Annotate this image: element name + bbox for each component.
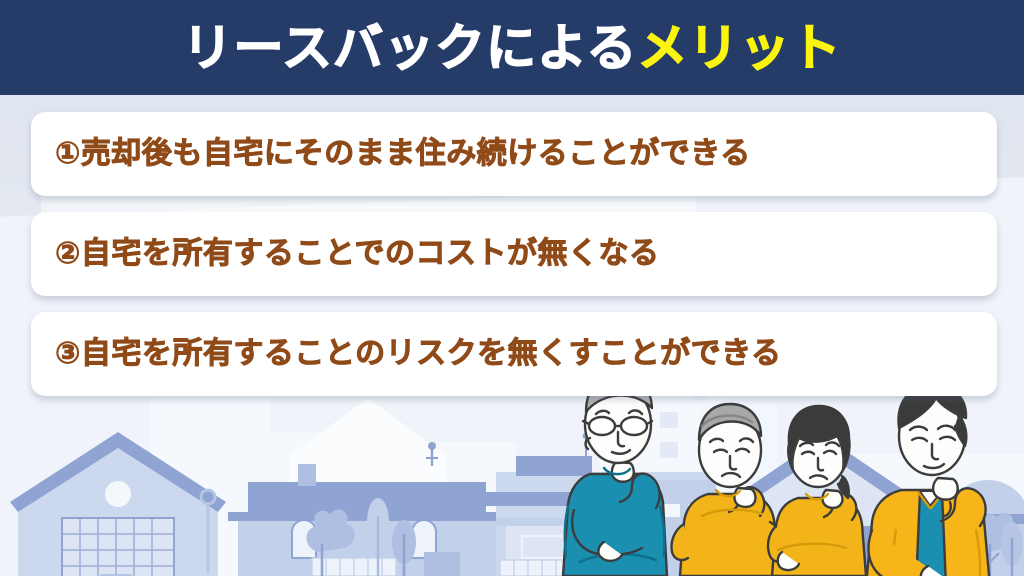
title-part-yellow: メリット	[638, 20, 842, 76]
title-part-white: リースバックによる	[183, 20, 638, 76]
people-illustration	[560, 366, 1024, 576]
merit-card-3-label: ③自宅を所有することのリスクを無くすことができる	[55, 339, 782, 369]
merit-card-2-label: ②自宅を所有することでのコストが無くなる	[55, 239, 660, 269]
merit-card-1[interactable]: ①売却後も自宅にそのまま住み続けることができる	[31, 112, 997, 196]
merit-card-3[interactable]: ③自宅を所有することのリスクを無くすことができる	[31, 312, 997, 396]
slide-root: リースバックによるメリット ①売却後も自宅にそのまま住み続けることができる ②自…	[0, 0, 1024, 576]
merit-card-list: ①売却後も自宅にそのまま住み続けることができる ②自宅を所有することでのコストが…	[31, 112, 997, 396]
merit-card-1-label: ①売却後も自宅にそのまま住み続けることができる	[55, 139, 751, 169]
merit-card-2[interactable]: ②自宅を所有することでのコストが無くなる	[31, 212, 997, 296]
person-man-thinking	[866, 384, 990, 576]
page-title: リースバックによるメリット	[183, 23, 842, 73]
slide-header: リースバックによるメリット	[0, 0, 1024, 95]
person-elderly-man-thinking	[563, 374, 667, 576]
person-elderly-woman-thinking	[672, 404, 783, 576]
person-woman-thinking	[768, 406, 866, 576]
